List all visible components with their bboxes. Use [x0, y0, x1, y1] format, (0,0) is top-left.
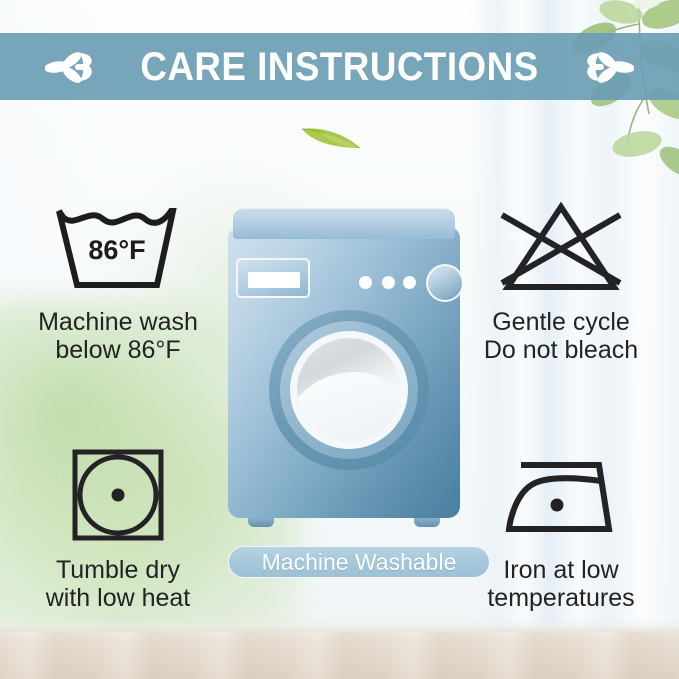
crossed-triangle-icon-wrap — [486, 192, 636, 302]
care-instructions-infographic: CARE INSTRUCTIONS 86°F Machine wash belo… — [0, 0, 679, 679]
crossed-triangle-icon — [486, 197, 636, 297]
washer-top-panel — [233, 208, 455, 239]
care-item-do-not-bleach: Gentle cycle Do not bleach — [451, 192, 671, 364]
washer-control-knob — [426, 264, 464, 302]
washer-door — [269, 310, 429, 470]
detergent-drawer-slot — [248, 272, 300, 288]
washer-indicator-2 — [382, 276, 395, 289]
washer-indicator-3 — [403, 276, 416, 289]
care-item-caption: Machine wash below 86°F — [38, 308, 198, 364]
leaf-cluster-icon — [489, 0, 679, 204]
fleur-de-lis-icon-left — [45, 45, 101, 89]
detergent-drawer — [236, 258, 310, 298]
iron-icon-wrap — [491, 440, 631, 550]
care-item-machine-wash: 86°F Machine wash below 86°F — [8, 192, 228, 364]
care-item-caption: Iron at low temperatures — [487, 556, 634, 612]
header-banner: CARE INSTRUCTIONS — [0, 33, 679, 100]
tumble-dry-icon-wrap — [68, 440, 168, 550]
floating-leaf-icon — [300, 124, 362, 150]
page-title: CARE INSTRUCTIONS — [140, 47, 538, 87]
care-item-iron: Iron at low temperatures — [451, 440, 671, 612]
fleur-de-lis-icon-right — [578, 45, 634, 89]
washer-door-glass — [297, 338, 401, 442]
status-badge: Machine Washable — [228, 546, 490, 578]
care-item-tumble-dry: Tumble dry with low heat — [8, 440, 228, 612]
washer-body — [228, 226, 460, 518]
washer-door-rim — [290, 331, 408, 449]
washer-door-ring — [280, 321, 418, 459]
washer-indicator-1 — [359, 276, 372, 289]
wash-tub-icon-wrap: 86°F — [49, 192, 187, 302]
status-badge-label: Machine Washable — [262, 551, 457, 574]
washing-machine-illustration — [228, 208, 460, 531]
table-surface — [0, 632, 679, 679]
care-item-caption: Gentle cycle Do not bleach — [484, 308, 638, 364]
tumble-dry-one-dot-icon — [68, 445, 168, 545]
care-item-caption: Tumble dry with low heat — [46, 556, 191, 612]
wash-temperature-value: 86°F — [88, 235, 145, 265]
iron-one-dot-icon — [491, 445, 631, 545]
wash-tub-icon: 86°F — [49, 197, 187, 297]
table-edge — [0, 618, 679, 632]
